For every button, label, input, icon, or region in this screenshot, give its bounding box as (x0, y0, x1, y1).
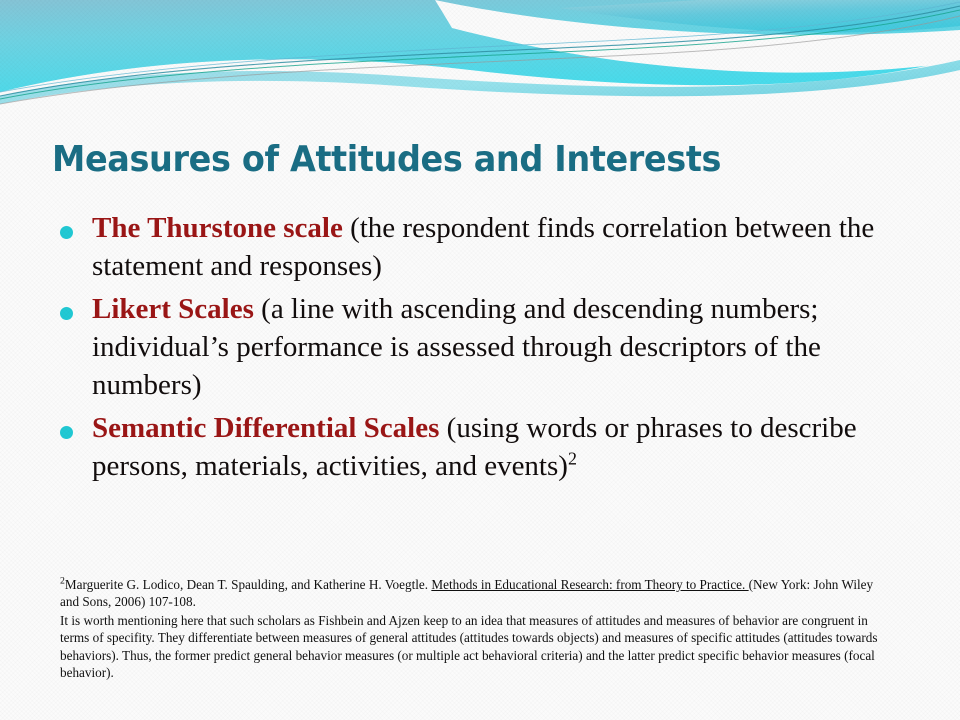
decorative-wave-banner (0, 0, 960, 130)
bullet-text-semantic-differential: Semantic Differential Scales (using word… (92, 410, 916, 485)
bullet-dot-icon (60, 426, 73, 439)
bullet-text-thurstone: The Thurstone scale (the respondent find… (92, 210, 916, 285)
footnote-block: 2Marguerite G. Lodico, Dean T. Spaulding… (60, 576, 890, 681)
footnote-reference-marker: 2 (568, 448, 577, 468)
bullet-term-likert: Likert Scales (92, 293, 254, 325)
bullet-text-likert: Likert Scales (a line with ascending and… (92, 291, 916, 404)
bullet-term-semantic-differential: Semantic Differential Scales (92, 412, 439, 444)
bullet-term-thurstone: The Thurstone scale (92, 212, 343, 244)
bullet-item-thurstone: The Thurstone scale (the respondent find… (56, 210, 916, 285)
footnote-citation: 2Marguerite G. Lodico, Dean T. Spaulding… (60, 576, 890, 610)
bullet-dot-icon (60, 226, 73, 239)
bullet-item-likert: Likert Scales (a line with ascending and… (56, 291, 916, 404)
footnote-paragraph: It is worth mentioning here that such sc… (60, 612, 890, 681)
bullet-item-semantic-differential: Semantic Differential Scales (using word… (56, 410, 916, 485)
bullet-dot-icon (60, 307, 73, 320)
bullet-list: The Thurstone scale (the respondent find… (56, 210, 916, 492)
slide-title: Measures of Attitudes and Interests (52, 139, 721, 180)
slide-canvas: Measures of Attitudes and Interests The … (0, 0, 960, 720)
citation-authors: Marguerite G. Lodico, Dean T. Spaulding,… (65, 577, 431, 592)
citation-book-title: Methods in Educational Research: from Th… (431, 577, 748, 592)
